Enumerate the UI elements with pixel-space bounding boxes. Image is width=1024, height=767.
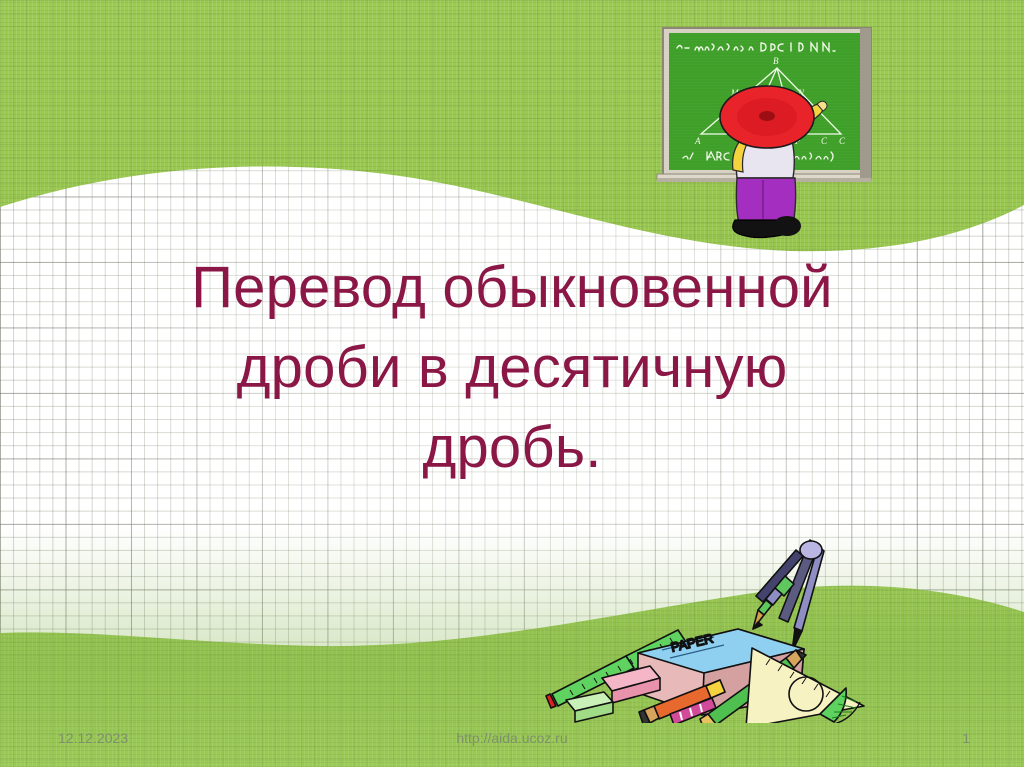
- title-line-1: Перевод обыкновенной: [60, 248, 964, 328]
- svg-text:C: C: [839, 136, 846, 146]
- chalkboard-illustration: A B C M N E Q D P C: [655, 22, 885, 247]
- footer-page-number: 1: [962, 730, 970, 746]
- svg-text:C: C: [821, 136, 828, 146]
- school-supplies-illustration: PAPER: [520, 528, 880, 723]
- presentation-slide: A B C M N E Q D P C: [0, 0, 1024, 767]
- footer-url[interactable]: http://aida.ucoz.ru: [0, 730, 1024, 746]
- svg-text:A: A: [694, 136, 701, 146]
- slide-title: Перевод обыкновенной дроби в десятичную …: [60, 248, 964, 488]
- title-line-2: дроби в десятичную: [60, 328, 964, 408]
- svg-text:B: B: [773, 56, 779, 66]
- slide-footer: 12.12.2023 http://aida.ucoz.ru 1: [0, 727, 1024, 749]
- title-line-3: дробь.: [60, 408, 964, 488]
